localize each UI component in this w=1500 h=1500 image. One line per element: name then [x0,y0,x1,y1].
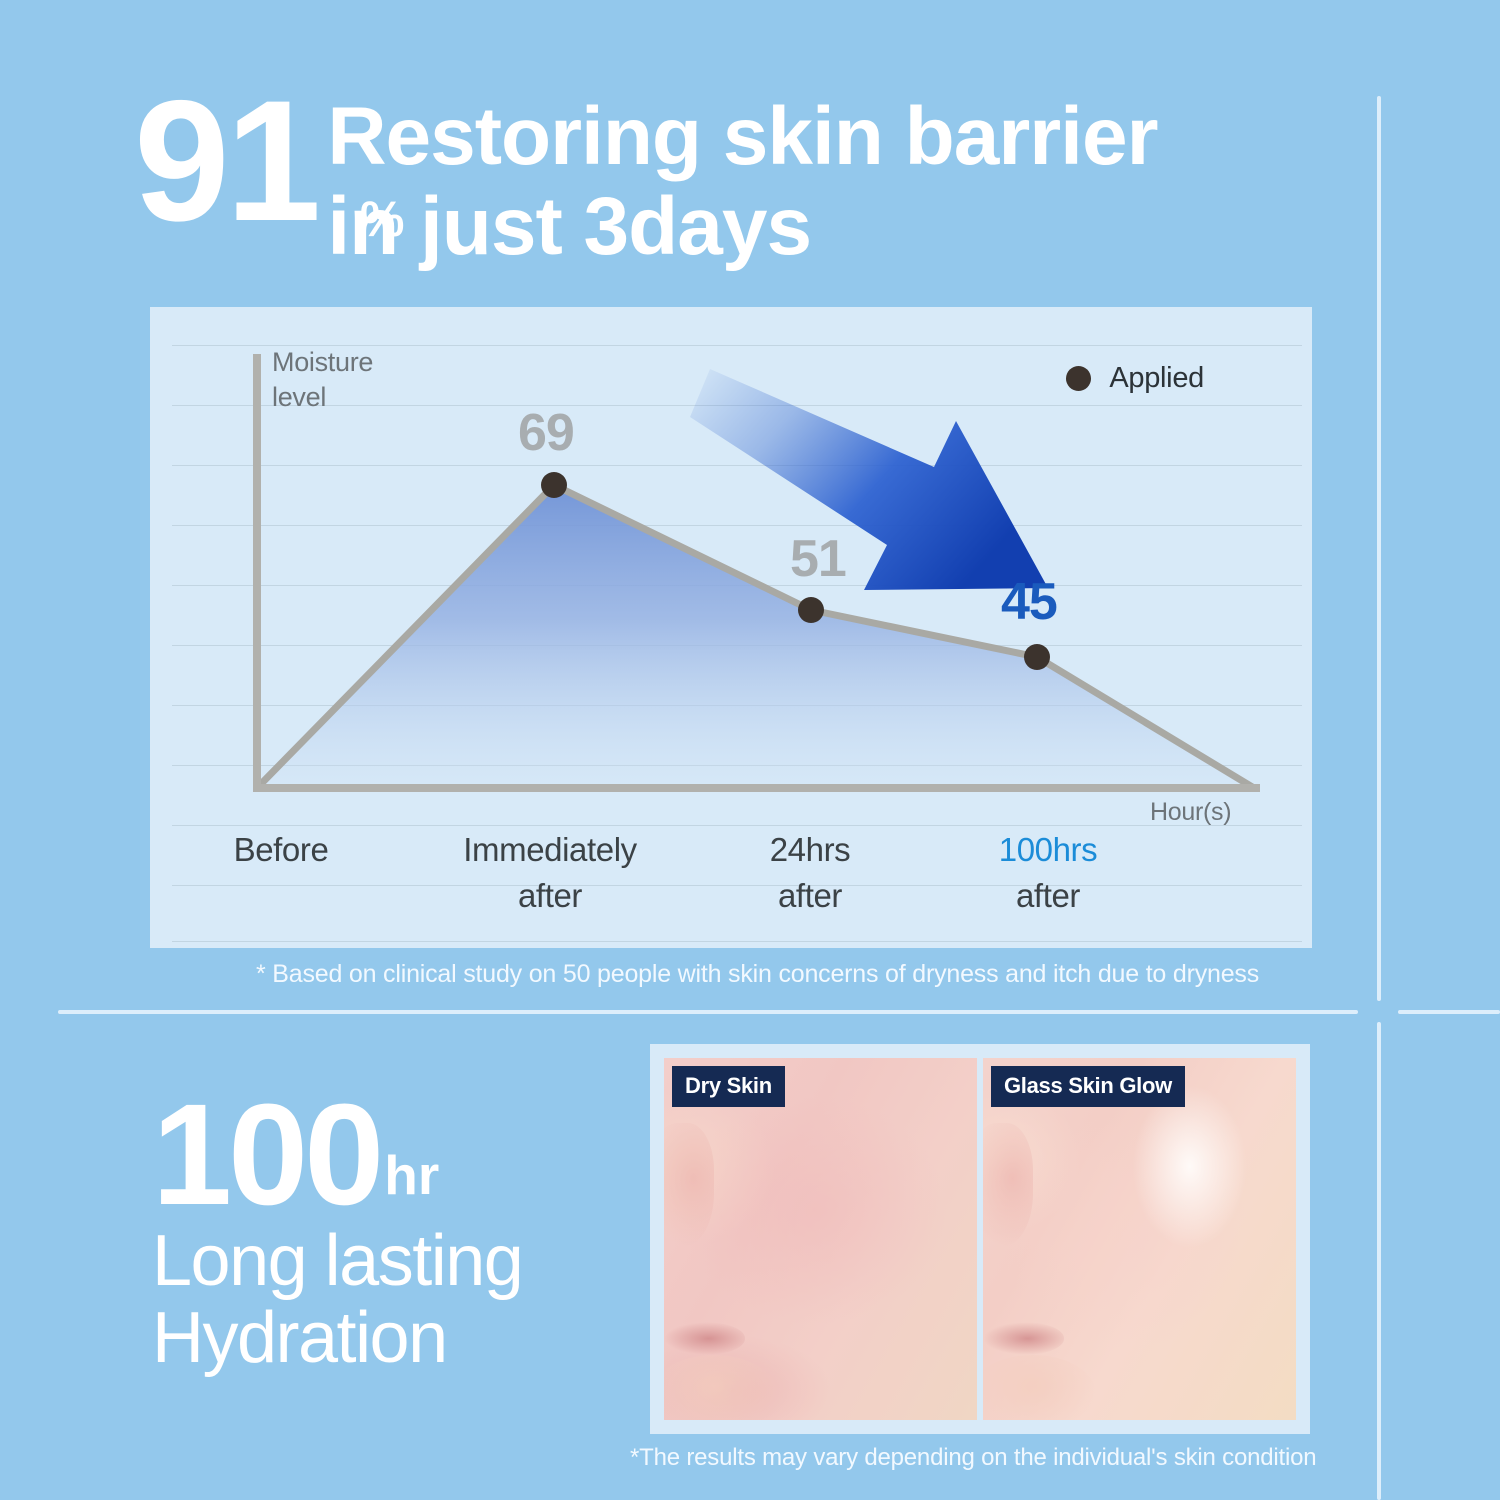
hydration-number-row: 100 hr [152,1092,522,1219]
data-point-3 [1024,644,1050,670]
headline-line-1: Restoring skin barrier [327,96,1157,178]
photo-tag-dry-skin: Dry Skin [672,1066,785,1107]
headline-percent-symbol: % [360,194,403,244]
data-point-1 [541,472,567,498]
hydration-hours-number: 100 [152,1092,380,1219]
y-axis-label: Moisture level [272,345,373,414]
hydration-line-1: Long lasting [152,1223,522,1301]
headline-row: 91 Restoring skin barrier % in just 3day… [128,82,1368,268]
photo-glass-skin-glow: Glass Skin Glow [983,1058,1296,1420]
headline-percent-number: 91 [134,82,317,240]
photo-dry-skin: Dry Skin [664,1058,977,1420]
headline-line-2: % in just 3days [327,186,1157,268]
lip-shape [664,1322,745,1355]
x-tick-100hrs-line-2: after [1016,877,1080,914]
x-tick-before-line-1: Before [234,831,329,868]
lip-shape [983,1322,1064,1355]
data-label-45: 45 [1001,572,1057,632]
x-tick-24hrs-after: 24hrs after [770,827,851,918]
x-axis-label: Hour(s) [1150,796,1231,828]
x-tick-100hrs-after: 100hrs after [999,827,1098,918]
skin-comparison-row: Dry Skin Glass Skin Glow [664,1058,1296,1420]
x-tick-24hrs-line-2: after [778,877,842,914]
vertical-divider-bottom [1377,1022,1381,1500]
x-tick-immediately-line-2: after [518,877,582,914]
hydration-claim-block: 100 hr Long lasting Hydration [152,1092,522,1378]
x-tick-before: Before [234,827,329,873]
photo-tag-glass-skin-glow: Glass Skin Glow [991,1066,1185,1107]
skin-comparison-panel: Dry Skin Glass Skin Glow [650,1044,1310,1434]
y-axis-label-line-2: level [272,382,326,412]
hydration-line-2: Hydration [152,1300,522,1378]
x-tick-100hrs-line-1: 100hrs [999,831,1098,868]
headline-text-wrap: Restoring skin barrier % in just 3days [327,82,1157,268]
data-label-51: 51 [790,529,846,589]
photos-footnote: *The results may vary depending on the i… [630,1444,1316,1472]
legend-dot-icon [1066,366,1091,391]
trend-arrow-icon [690,369,1048,590]
data-point-2 [798,597,824,623]
x-tick-immediately-line-1: Immediately [463,831,637,868]
legend-label-applied: Applied [1109,362,1204,395]
x-tick-immediately-after: Immediately after [463,827,637,918]
data-label-69: 69 [518,403,574,463]
horizontal-divider-left [58,1010,1358,1014]
nose-shape [983,1123,1033,1246]
vertical-divider-top [1377,96,1381,1001]
chart-legend: Applied [1066,362,1204,395]
headline-block: 91 Restoring skin barrier % in just 3day… [128,82,1368,268]
y-axis-label-line-1: Moisture [272,347,373,377]
chart-footnote: * Based on clinical study on 50 people w… [256,960,1259,989]
x-tick-24hrs-line-1: 24hrs [770,831,851,868]
nose-shape [664,1123,714,1246]
horizontal-divider-right [1398,1010,1500,1014]
hydration-hours-unit: hr [384,1143,439,1219]
